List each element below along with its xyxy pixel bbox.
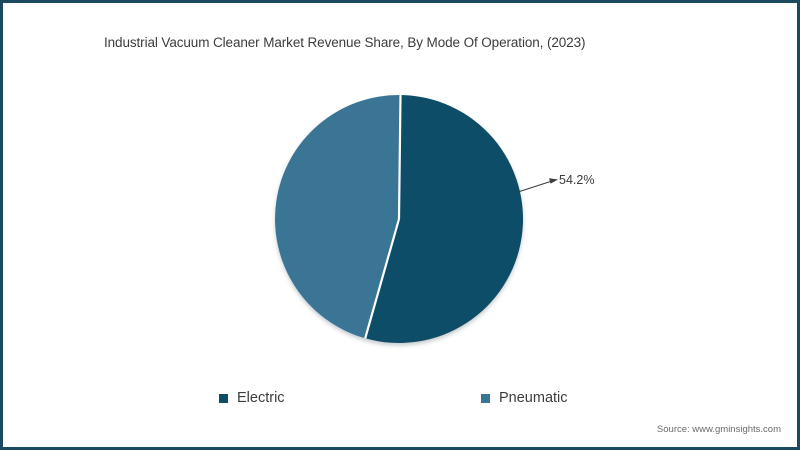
chart-figure: Industrial Vacuum Cleaner Market Revenue…	[0, 0, 800, 450]
pie-separator-top	[399, 95, 401, 219]
source-attribution: Source: www.gminsights.com	[657, 424, 781, 435]
legend-item-pneumatic[interactable]: Pneumatic	[481, 387, 568, 409]
chart-legend: Electric Pneumatic	[0, 387, 800, 409]
legend-label-electric: Electric	[237, 390, 285, 406]
pie-chart-svg	[274, 90, 524, 348]
arrowhead-icon	[549, 178, 558, 183]
page-title: Industrial Vacuum Cleaner Market Revenue…	[104, 33, 724, 53]
legend-square-icon-electric	[219, 394, 228, 403]
data-label-electric: 54.2%	[559, 173, 594, 187]
pie-chart	[274, 90, 524, 348]
legend-item-electric[interactable]: Electric	[219, 387, 285, 409]
legend-label-pneumatic: Pneumatic	[499, 390, 568, 406]
leader-line-stroke	[518, 181, 552, 192]
legend-square-icon-pneumatic	[481, 394, 490, 403]
